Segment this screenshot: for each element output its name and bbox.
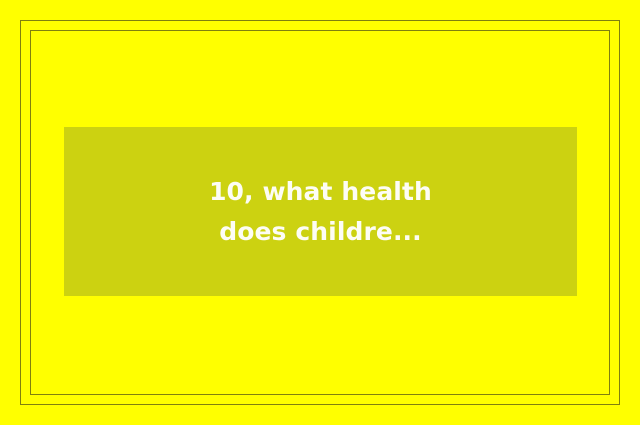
slide-canvas: 10, what health does childre... xyxy=(0,0,640,425)
card-text-line-2: does childre... xyxy=(209,212,432,252)
card-text: 10, what health does childre... xyxy=(209,172,432,252)
text-card: 10, what health does childre... xyxy=(64,127,577,296)
card-text-line-1: 10, what health xyxy=(209,172,432,212)
